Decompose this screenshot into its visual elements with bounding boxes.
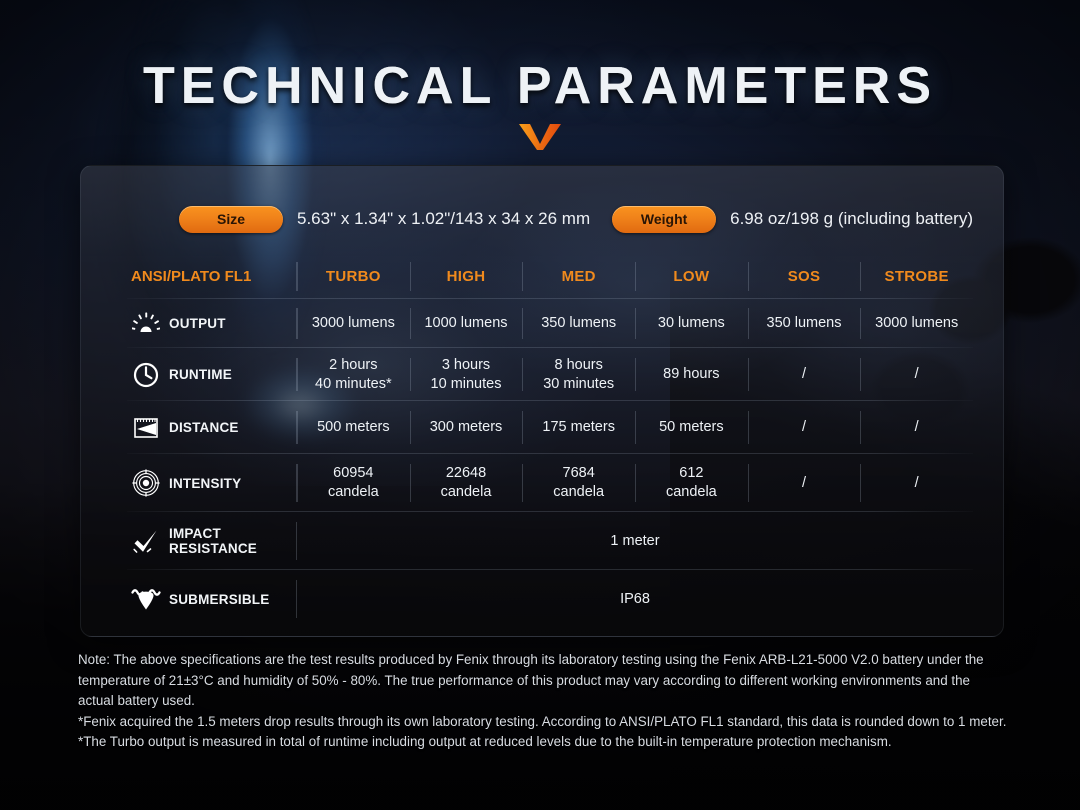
row-label-distance: DISTANCE — [127, 401, 297, 454]
cell-output-high: 1000 lumens — [410, 299, 523, 348]
sunburst-icon — [131, 309, 161, 339]
cell-output-sos: 350 lumens — [748, 299, 861, 348]
header-cell-high: HIGH — [410, 254, 523, 299]
summary-row: Size 5.63" x 1.34" x 1.02"/143 x 34 x 26… — [81, 191, 1003, 247]
row-label-runtime: RUNTIME — [127, 348, 297, 401]
target-icon — [131, 468, 161, 498]
cell-output-low: 30 lumens — [635, 299, 748, 348]
row-label-impact-resistance: IMPACT RESISTANCE — [127, 512, 297, 570]
cell-output-turbo: 3000 lumens — [297, 299, 410, 348]
footnotes: Note: The above specifications are the t… — [78, 650, 1008, 753]
page-title: TECHNICAL PARAMETERS — [143, 56, 937, 116]
header-cell-med: MED — [522, 254, 635, 299]
cell-submersible-value: IP68 — [297, 570, 973, 628]
cell-distance-turbo: 500 meters — [297, 401, 410, 454]
cell-output-strobe: 3000 lumens — [860, 299, 973, 348]
table-row: IMPACT RESISTANCE 1 meter — [127, 512, 973, 570]
cell-distance-high: 300 meters — [410, 401, 523, 454]
cell-intensity-low: 612 candela — [635, 454, 748, 512]
cell-output-med: 350 lumens — [522, 299, 635, 348]
table-row: DISTANCE 500 meters 300 meters 175 meter… — [127, 401, 973, 454]
footnote-line-1: Note: The above specifications are the t… — [78, 650, 1008, 712]
cell-intensity-med: 7684 candela — [522, 454, 635, 512]
size-pill: Size — [179, 206, 283, 233]
row-label-output: OUTPUT — [127, 299, 297, 348]
cell-runtime-low: 89 hours — [635, 348, 748, 401]
weight-value: 6.98 oz/198 g (including battery) — [730, 209, 973, 229]
table-header-row: ANSI/PLATO FL1 TURBO HIGH MED LOW SOS ST… — [127, 254, 973, 299]
row-label-text: DISTANCE — [169, 420, 239, 435]
cell-distance-strobe: / — [860, 401, 973, 454]
header-cell-sos: SOS — [748, 254, 861, 299]
header-label-standard: ANSI/PLATO FL1 — [131, 268, 251, 285]
spec-panel: Size 5.63" x 1.34" x 1.02"/143 x 34 x 26… — [80, 165, 1004, 637]
cell-impact-resistance-value: 1 meter — [297, 512, 973, 570]
footnote-line-3: *The Turbo output is measured in total o… — [78, 732, 1008, 753]
footnote-line-2: *Fenix acquired the 1.5 meters drop resu… — [78, 712, 1008, 733]
size-value: 5.63" x 1.34" x 1.02"/143 x 34 x 26 mm — [297, 209, 590, 229]
header-cell-standard: ANSI/PLATO FL1 — [127, 254, 297, 299]
cell-intensity-sos: / — [748, 454, 861, 512]
row-label-text: OUTPUT — [169, 316, 226, 331]
ruler-icon — [131, 413, 161, 443]
cell-runtime-sos: / — [748, 348, 861, 401]
cell-intensity-high: 22648 candela — [410, 454, 523, 512]
chevron-down-icon — [0, 122, 1080, 152]
table-row: OUTPUT 3000 lumens 1000 lumens 350 lumen… — [127, 299, 973, 348]
cell-distance-med: 175 meters — [522, 401, 635, 454]
header-cell-low: LOW — [635, 254, 748, 299]
row-label-text: INTENSITY — [169, 476, 241, 491]
header-cell-strobe: STROBE — [860, 254, 973, 299]
row-label-intensity: INTENSITY — [127, 454, 297, 512]
row-label-submersible: SUBMERSIBLE — [127, 570, 297, 628]
weight-pill: Weight — [612, 206, 716, 233]
cell-intensity-strobe: / — [860, 454, 973, 512]
clock-icon — [131, 360, 161, 390]
row-label-text: SUBMERSIBLE — [169, 592, 269, 607]
cell-intensity-turbo: 60954 candela — [297, 454, 410, 512]
cell-runtime-strobe: / — [860, 348, 973, 401]
row-label-text: RUNTIME — [169, 367, 232, 382]
table-row: SUBMERSIBLE IP68 — [127, 570, 973, 628]
water-drop-icon — [131, 584, 161, 614]
cell-distance-sos: / — [748, 401, 861, 454]
header-cell-turbo: TURBO — [297, 254, 410, 299]
cell-runtime-high: 3 hours 10 minutes — [410, 348, 523, 401]
cell-runtime-med: 8 hours 30 minutes — [522, 348, 635, 401]
cell-runtime-turbo: 2 hours 40 minutes* — [297, 348, 410, 401]
impact-arrow-icon — [131, 526, 161, 556]
table-row: INTENSITY 60954 candela 22648 candela 76… — [127, 454, 973, 512]
table-row: RUNTIME 2 hours 40 minutes* 3 hours 10 m… — [127, 348, 973, 401]
spec-table: ANSI/PLATO FL1 TURBO HIGH MED LOW SOS ST… — [127, 254, 973, 628]
page-title-wrap: TECHNICAL PARAMETERS — [0, 56, 1080, 116]
row-label-text: IMPACT RESISTANCE — [169, 526, 257, 556]
cell-distance-low: 50 meters — [635, 401, 748, 454]
